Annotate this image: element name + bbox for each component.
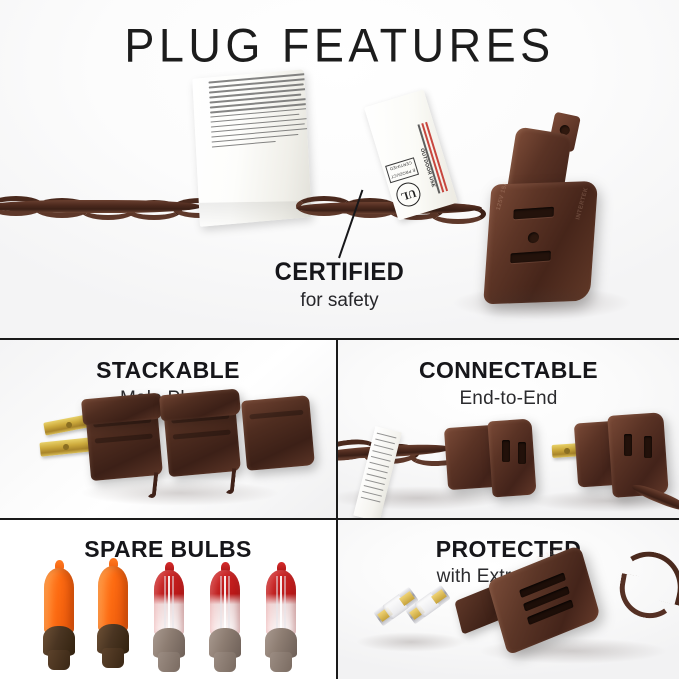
panel-plug-features-hero: PLUG FEATURES CAUTION (0, 0, 679, 338)
caution-hang-tag: CAUTION (192, 69, 311, 227)
fused-plug-cord-lower (615, 573, 679, 623)
ul-logo-icon: UL (393, 179, 423, 209)
divider-horizontal-top (0, 338, 679, 340)
certified-callout-heading: CERTIFIED (17, 258, 662, 287)
infographic-board: PLUG FEATURES CAUTION (0, 0, 679, 679)
panel-stackable: STACKABLE Male Plugs (0, 340, 336, 518)
caution-tag-text-lines (208, 73, 311, 152)
protected-artwork: 3A 125V (338, 520, 679, 679)
panel-connectable: CONNECTABLE End-to-End (338, 340, 679, 518)
connectable-female-face (487, 419, 536, 498)
cord-hook-left (147, 472, 159, 499)
spare-bulb-1 (38, 560, 80, 672)
spare-bulbs-artwork (0, 520, 336, 679)
certified-callout-sub: for safety (0, 290, 679, 312)
connectable-female-slot-a (502, 440, 510, 462)
connectable-artwork (338, 340, 679, 518)
connectable-female-slot-b (518, 442, 526, 464)
divider-vertical (336, 340, 338, 679)
spare-bulb-4 (204, 562, 246, 674)
ul-certified-box: E PRODUCT CERTIFIED (385, 157, 419, 183)
divider-horizontal-bottom (0, 518, 679, 520)
page-title: PLUG FEATURES (0, 18, 679, 73)
stackable-artwork (0, 340, 336, 518)
male-plug-partial (241, 395, 315, 471)
ul-side-text: OUTDOOR USE (419, 148, 437, 189)
connectable-male-slot-a (624, 434, 632, 456)
spare-bulb-3 (148, 562, 190, 674)
plug-prong-lower (39, 437, 92, 456)
fused-male-plug: 3A 125V (466, 540, 666, 670)
panel-spare-bulbs: SPARE BULBS (0, 520, 336, 679)
connectable-male-slot-b (644, 436, 652, 458)
spare-bulb-5 (260, 562, 302, 674)
cord-hook-right (225, 468, 237, 495)
spare-bulb-2 (92, 558, 134, 670)
panel-protected: PROTECTED with Extra Fuses (338, 520, 679, 679)
